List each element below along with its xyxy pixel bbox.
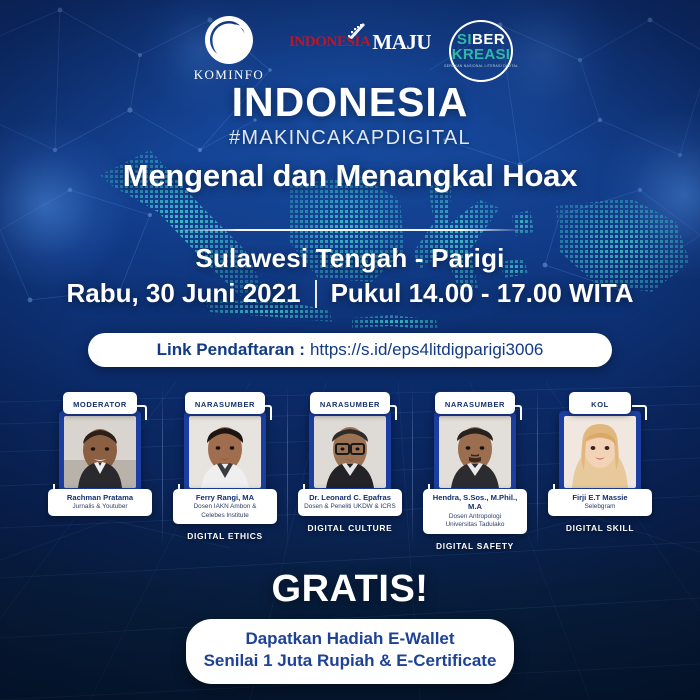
poster-canvas: KOMINFO INDONESIA MAJU SIBER KREASI [0,0,700,700]
speaker-name-plate: Rachman Pratama Jurnalis & Youtuber [48,489,152,516]
logo-row: KOMINFO INDONESIA MAJU SIBER KREASI [0,14,700,84]
speaker-pillar: DIGITAL ETHICS [187,531,263,541]
speaker-name: Firji E.T Massie [551,493,649,502]
speaker-card[interactable]: MODERATOR [38,392,163,523]
registration-link-bar[interactable]: Link Pendaftaran : https://s.id/eps4litd… [88,333,612,367]
siber-text-block: SIBER KREASI GERAKAN NASIONAL LITERASI D… [443,32,519,69]
speaker-role-badge: KOL [569,392,631,414]
speaker-portrait-icon [439,416,511,488]
speaker-role: Selebgram [551,503,649,511]
speaker-badge-label: NARASUMBER [445,400,505,409]
registration-label: Link Pendaftaran : [157,340,305,360]
brand-title: INDONESIA [0,82,700,123]
speaker-list: MODERATOR [0,392,700,557]
prize-banner: Dapatkan Hadiah E-Wallet Senilai 1 Juta … [186,619,514,684]
speaker-role: Jurnalis & Youtuber [51,503,149,511]
event-time: Pukul 14.00 - 17.00 WITA [331,278,634,309]
siber-tagline: GERAKAN NASIONAL LITERASI DIGITAL [443,64,519,69]
speaker-name-plate: Firji E.T Massie Selebgram [548,489,652,516]
speaker-badge-label: KOL [591,400,609,409]
speaker-name-plate: Dr. Leonard C. Epafras Dosen & Peneliti … [298,489,402,516]
siber-kreasi-text: KREASI [443,47,519,63]
speaker-role-badge: MODERATOR [63,392,137,414]
speaker-name: Dr. Leonard C. Epafras [301,493,399,502]
speaker-photo-frame [309,411,391,493]
speaker-name: Hendra, S.Sos., M.Phil., M.A [426,493,524,512]
event-topic: Mengenal dan Menangkal Hoax [0,158,700,194]
brand-hashtag: #MAKINCAKAPDIGITAL [0,125,700,151]
speaker-badge-label: NARASUMBER [195,400,255,409]
speaker-role-badge: NARASUMBER [185,392,265,414]
divider-rule [175,229,525,231]
siber-kreasi-logo: SIBER KREASI GERAKAN NASIONAL LITERASI D… [443,18,519,84]
indonesia-maju-logo: INDONESIA MAJU [289,30,431,55]
speaker-pillar: DIGITAL SKILL [566,523,634,533]
speaker-portrait-icon [564,416,636,488]
prize-line-2: Senilai 1 Juta Rupiah & E-Certificate [196,650,504,672]
brand-block: INDONESIA #MAKINCAKAPDIGITAL [0,82,700,151]
prize-line-1: Dapatkan Hadiah E-Wallet [196,628,504,650]
speaker-portrait-icon [189,416,261,488]
maju-wordmark: MAJU [372,30,431,55]
speaker-name: Ferry Rangi, MA [176,493,274,502]
speaker-card[interactable]: NARASUMBER Ferry Ran [163,392,288,541]
registration-url[interactable]: https://s.id/eps4litdigparigi3006 [310,340,543,360]
speaker-portrait-icon [64,416,136,488]
speaker-pillar: DIGITAL CULTURE [308,523,393,533]
speaker-photo-frame [434,411,516,493]
speaker-card[interactable]: KOL Firji E.T Massie [538,392,663,533]
event-location: Sulawesi Tengah - Parigi [0,243,700,274]
speaker-badge-label: MODERATOR [73,400,127,409]
speaker-name-plate: Hendra, S.Sos., M.Phil., M.A Dosen Antro… [423,489,527,534]
gratis-headline: GRATIS! [0,568,700,611]
speaker-role-badge: NARASUMBER [310,392,390,414]
maju-flag-icon [341,22,367,46]
datetime-separator [315,280,317,308]
speaker-role: Dosen & Peneliti UKDW & ICRS [301,503,399,511]
speaker-card[interactable]: NARASUMBER [413,392,538,551]
event-datetime: Rabu, 30 Juni 2021 Pukul 14.00 - 17.00 W… [0,278,700,309]
speaker-photo-frame [184,411,266,493]
kominfo-globe-icon [203,14,255,66]
speaker-photo-frame [559,411,641,493]
speaker-pillar: DIGITAL SAFETY [436,541,514,551]
speaker-name: Rachman Pratama [51,493,149,502]
speaker-badge-label: NARASUMBER [320,400,380,409]
speaker-card[interactable]: NARASUMBER [288,392,413,533]
speaker-photo-frame [59,411,141,493]
speaker-role: Dosen AntropologiUniversitas Tadulako [426,513,524,530]
speaker-role-badge: NARASUMBER [435,392,515,414]
speaker-role: Dosen IAKN Ambon &Celebes Institute [176,503,274,520]
event-date: Rabu, 30 Juni 2021 [66,278,300,309]
speaker-name-plate: Ferry Rangi, MA Dosen IAKN Ambon &Celebe… [173,489,277,524]
kominfo-logo: KOMINFO [181,14,277,83]
speaker-portrait-icon [314,416,386,488]
